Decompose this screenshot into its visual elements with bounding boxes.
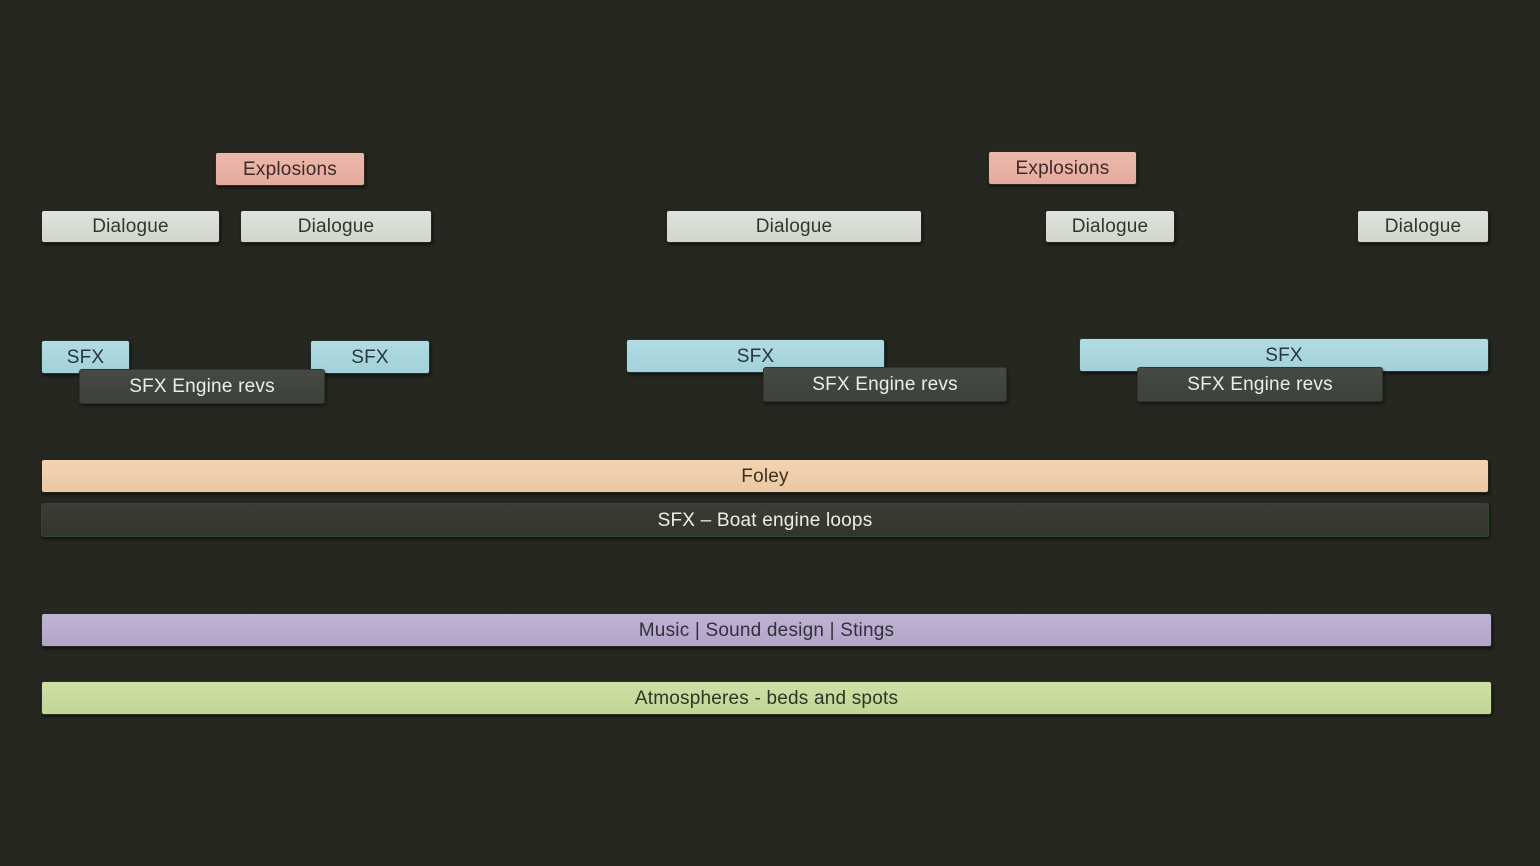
timeline-canvas: ExplosionsExplosionsDialogueDialogueDial… (0, 0, 1540, 866)
clip-atmospheres[interactable]: Atmospheres - beds and spots (41, 681, 1492, 715)
track-atmospheres: Atmospheres - beds and spots (0, 0, 1540, 866)
clip-label: Atmospheres - beds and spots (629, 689, 904, 708)
